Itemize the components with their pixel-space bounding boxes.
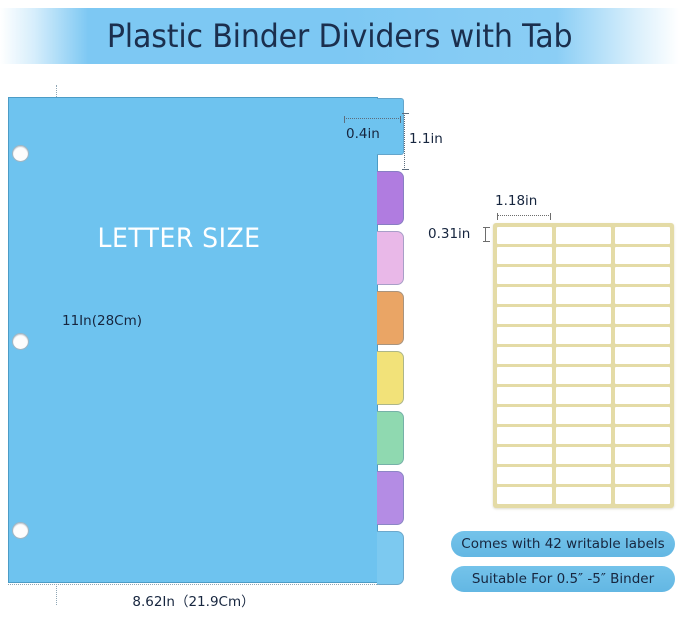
tab-purple-1 [377, 171, 404, 225]
label-cell [497, 327, 552, 344]
label-cell [556, 427, 611, 444]
label-cell [497, 407, 552, 424]
label-cell [556, 267, 611, 284]
divider-body: LETTER SIZE [8, 97, 378, 583]
label-sheet-grid [493, 223, 674, 508]
label-cell [497, 307, 552, 324]
label-width-label: 1.18in [495, 193, 537, 209]
divider-width-label: 8.62In（21.9Cm） [8, 590, 379, 610]
label-cell [556, 467, 611, 484]
divider-height-label: 11In(28Cm) [62, 313, 142, 329]
tab-width-label: 0.4in [346, 126, 380, 142]
label-cell [556, 347, 611, 364]
tab-purple-2 [377, 471, 404, 525]
label-cell [497, 427, 552, 444]
label-cell [497, 347, 552, 364]
label-cell [615, 367, 670, 384]
label-width-dimension-line [497, 215, 551, 216]
label-cell [556, 447, 611, 464]
label-cell [497, 467, 552, 484]
label-cell [497, 287, 552, 304]
label-cell [556, 327, 611, 344]
tab-green [377, 411, 404, 465]
label-cell [615, 407, 670, 424]
label-cell [497, 447, 552, 464]
label-cell [497, 227, 552, 244]
pill-binder-size: Suitable For 0.5″ -5″ Binder [451, 566, 675, 592]
tab-blue-top [377, 98, 404, 155]
label-cell [615, 447, 670, 464]
label-cell [615, 247, 670, 264]
label-cell [556, 367, 611, 384]
label-cell [556, 307, 611, 324]
label-cell [615, 387, 670, 404]
letter-size-label: LETTER SIZE [21, 223, 337, 254]
label-cell [615, 307, 670, 324]
title-banner: Plastic Binder Dividers with Tab [0, 8, 679, 64]
label-cell [615, 487, 670, 504]
tab-height-dimension-line [404, 113, 405, 170]
punch-hole-middle [12, 333, 29, 350]
label-cell [615, 227, 670, 244]
divider-illustration: LETTER SIZE 11In(28Cm) 0.4in 1.1in 8.62I… [0, 85, 420, 605]
label-height-label: 0.31in [428, 226, 470, 242]
tab-height-label: 1.1in [409, 131, 443, 147]
tab-pink [377, 231, 404, 285]
label-cell [556, 247, 611, 264]
label-cell [497, 267, 552, 284]
tab-width-dimension-line [344, 118, 401, 119]
label-cell [556, 387, 611, 404]
page-title: Plastic Binder Dividers with Tab [107, 17, 573, 55]
bottom-guide-line [8, 584, 379, 585]
label-cell [615, 267, 670, 284]
label-sheet-illustration: 1.18in 0.31in [425, 185, 679, 515]
label-cell [556, 487, 611, 504]
label-cell [497, 387, 552, 404]
punch-hole-top [12, 145, 29, 162]
label-cell [615, 327, 670, 344]
label-cell [615, 427, 670, 444]
label-height-dimension-line [485, 227, 486, 242]
pill-writable-labels: Comes with 42 writable labels [451, 531, 675, 557]
label-cell [556, 407, 611, 424]
tab-blue-bottom [377, 531, 404, 585]
punch-hole-bottom [12, 522, 29, 539]
label-cell [497, 367, 552, 384]
label-cell [556, 227, 611, 244]
tab-orange [377, 291, 404, 345]
label-cell [497, 247, 552, 264]
pill-binder-size-text: Suitable For 0.5″ -5″ Binder [472, 571, 654, 587]
tab-yellow [377, 351, 404, 405]
label-cell [556, 287, 611, 304]
label-cell [615, 287, 670, 304]
label-cell [615, 347, 670, 364]
label-cell [497, 487, 552, 504]
label-cell [615, 467, 670, 484]
pill-writable-labels-text: Comes with 42 writable labels [461, 536, 664, 552]
